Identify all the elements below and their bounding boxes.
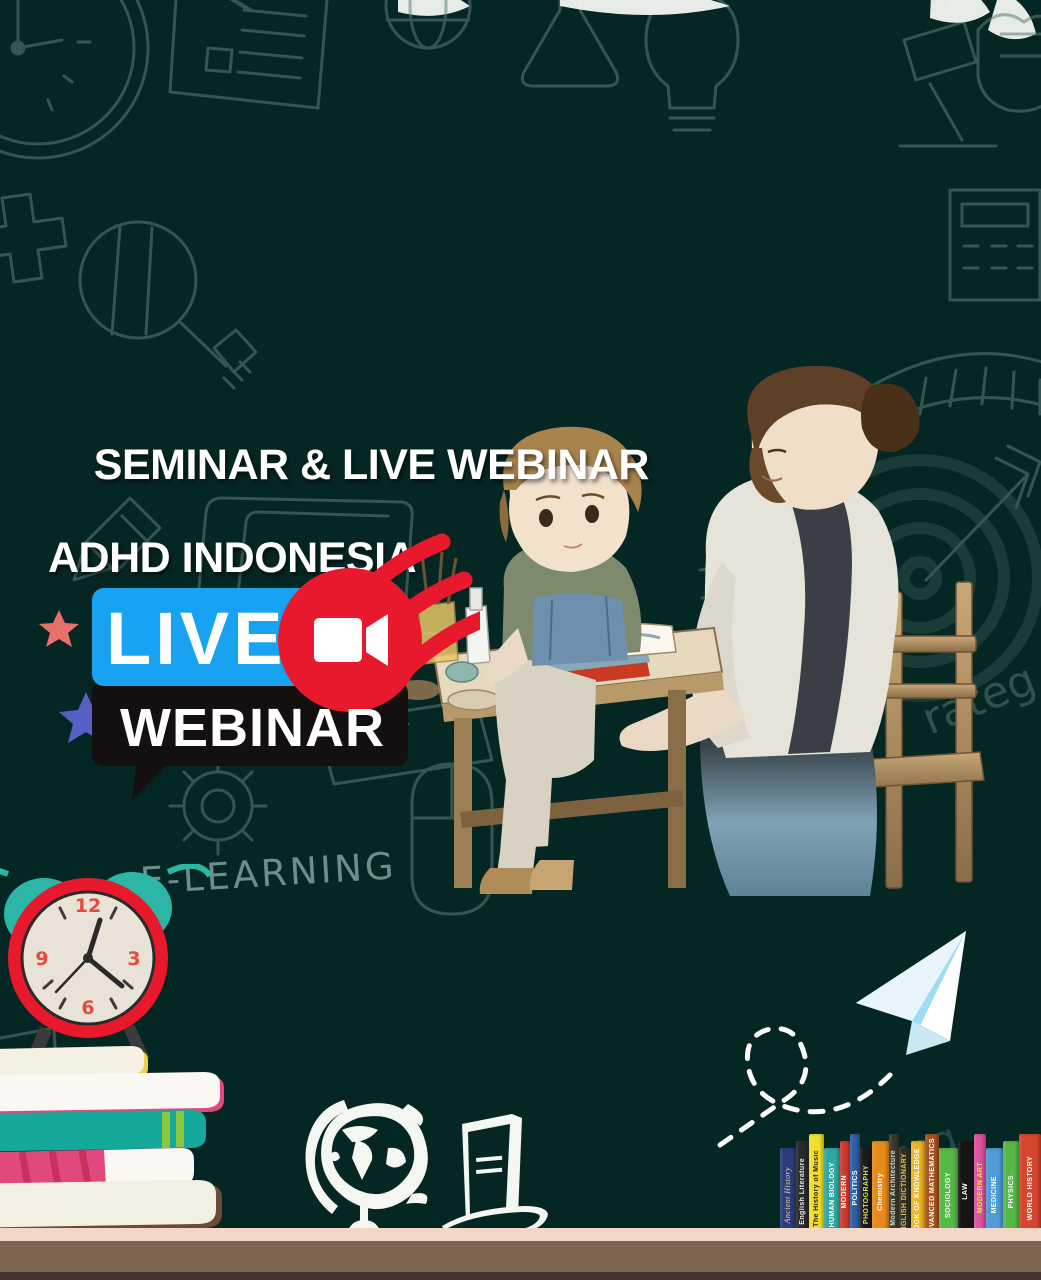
book-spine-title: PHOTOGRAPHY — [863, 1159, 870, 1224]
plus-doodle — [0, 194, 66, 282]
video-camera-icon — [314, 614, 388, 666]
magnifier-doodle — [80, 222, 256, 388]
book-spine-title: HUMAN BIOLOGY — [829, 1156, 836, 1227]
book-spine-title: ENGLISH DICTIONARY — [901, 1148, 908, 1236]
clock-numeral-3: 3 — [127, 948, 140, 970]
bulb-doodle — [646, 0, 738, 130]
live-webinar-badge[interactable]: LIVE WEBINAR — [60, 530, 480, 800]
book-spine: MEDICINE — [986, 1148, 1003, 1236]
book-spine: WORLD HISTORY — [1019, 1134, 1041, 1236]
globe-icon — [306, 1100, 428, 1236]
book-spine-title: MODERN ART — [977, 1156, 984, 1213]
book-spine-title: LAW — [962, 1177, 969, 1200]
headline-line-1: SEMINAR & LIVE WEBINAR — [94, 441, 649, 489]
paper-plane-icon — [856, 931, 966, 1055]
book-spine: Modern Architecture — [889, 1134, 899, 1236]
clock-numeral-9: 9 — [35, 948, 48, 970]
chalk-objects-group — [296, 1086, 576, 1246]
microscope-doodle — [900, 0, 996, 146]
shelf-board — [0, 1228, 1041, 1280]
book-spine: Ancient History — [780, 1148, 796, 1236]
book-spine-title: BOOK OF KNOWLEDGE — [914, 1142, 921, 1236]
shelf-lip — [0, 1228, 1041, 1241]
book-spine-title: Ancient History — [784, 1161, 792, 1223]
book-spine-title: ADVANCED MATHEMATICS — [929, 1134, 936, 1236]
book-spine-title: Chemistry — [877, 1167, 884, 1211]
book-spine: English Literature — [796, 1141, 810, 1236]
flask-doodle — [522, 0, 617, 86]
book-spine: PHYSICS — [1003, 1141, 1020, 1236]
webinar-label: WEBINAR — [120, 698, 385, 758]
book-spine: The History of Music — [809, 1134, 824, 1236]
clock-doodle — [0, 0, 148, 158]
book-spine: HUMAN BIOLOGY — [824, 1148, 840, 1236]
book-spine-title: The History of Music — [813, 1144, 820, 1227]
book-spine-title: PHYSICS — [1008, 1169, 1015, 1209]
live-label: LIVE — [106, 597, 286, 680]
book-spine: BOOK OF KNOWLEDGE — [911, 1141, 926, 1236]
shelf-body — [0, 1241, 1041, 1272]
book-spine: MODERN ART — [974, 1134, 986, 1236]
book-spine: SOCIOLOGY — [939, 1148, 958, 1236]
book-spine: POLITICS — [850, 1134, 861, 1236]
chalk-top-doodles — [398, 0, 1036, 39]
book-spine-title: POLITICS — [852, 1164, 859, 1205]
book-spine-title: MODERN — [841, 1169, 848, 1209]
book-spine-title: Modern Architecture — [890, 1144, 897, 1226]
book-spine: ENGLISH DICTIONARY — [899, 1148, 911, 1236]
book-spine-title: SOCIOLOGY — [945, 1166, 952, 1218]
book-spine-title: WORLD HISTORY — [1027, 1150, 1034, 1220]
hand-doodle — [978, 15, 1041, 112]
book-spine: PHOTOGRAPHY — [860, 1148, 872, 1236]
book-stack — [0, 1046, 224, 1232]
book-spine: Chemistry — [872, 1141, 889, 1236]
document-doodle — [170, 0, 328, 108]
calculator-doodle — [950, 190, 1040, 300]
standing-book-icon — [442, 1114, 548, 1236]
book-spine: ADVANCED MATHEMATICS — [925, 1134, 939, 1236]
book-spine: LAW — [958, 1141, 975, 1236]
book-spine: MODERN — [840, 1141, 850, 1236]
clock-numeral-6: 6 — [81, 997, 94, 1019]
book-spine-title: MEDICINE — [991, 1170, 998, 1213]
shelf-underside — [0, 1272, 1041, 1280]
book-spine-title: English Literature — [799, 1152, 806, 1225]
bookshelf-book-row: Ancient HistoryEnglish LiteratureThe His… — [780, 1124, 1041, 1236]
clock-numeral-12: 12 — [75, 895, 101, 917]
alarm-clock-and-book-stack: 12 3 6 9 — [0, 864, 262, 1244]
globe-top-doodle — [386, 0, 470, 48]
poster-canvas: rateg rateg — [0, 0, 1041, 1280]
